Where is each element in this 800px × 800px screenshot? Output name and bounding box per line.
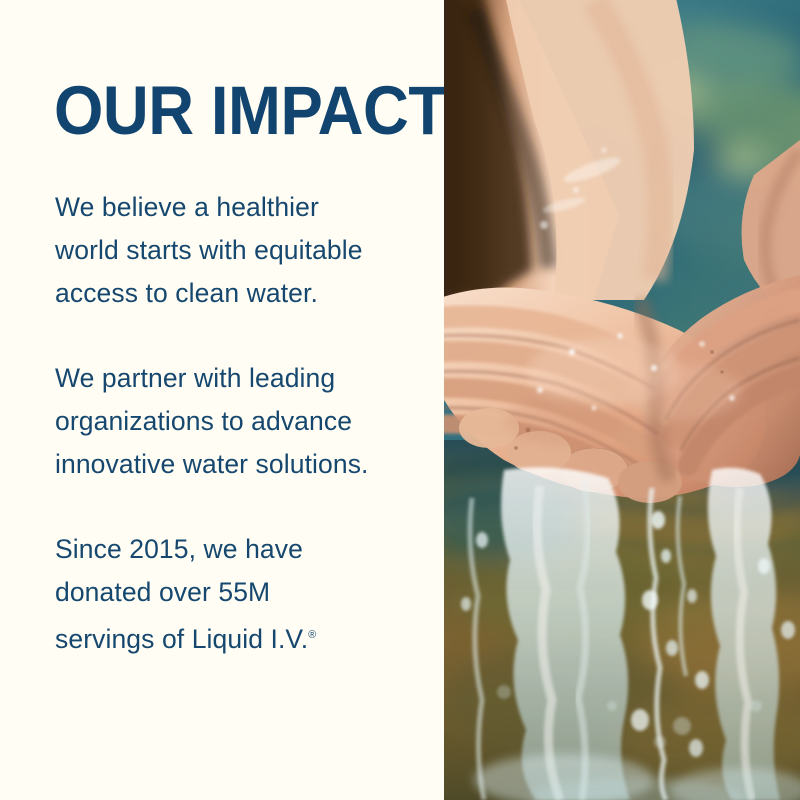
paragraph-donations: Since 2015, we have donated over 55M ser… [55, 528, 415, 661]
impact-poster: OUR IMPACT We believe a healthier world … [0, 0, 800, 800]
hands-water-photo [444, 0, 800, 800]
paragraph-partnerships: We partner with leading organizations to… [55, 357, 415, 486]
page-title: OUR IMPACT [54, 78, 447, 144]
body-copy: We believe a healthier world starts with… [55, 186, 415, 661]
donations-text: Since 2015, we have donated over 55M ser… [55, 534, 308, 654]
text-panel: OUR IMPACT We believe a healthier world … [0, 0, 444, 800]
registered-trademark-icon: ® [308, 629, 316, 641]
paragraph-mission: We believe a healthier world starts with… [55, 186, 415, 315]
